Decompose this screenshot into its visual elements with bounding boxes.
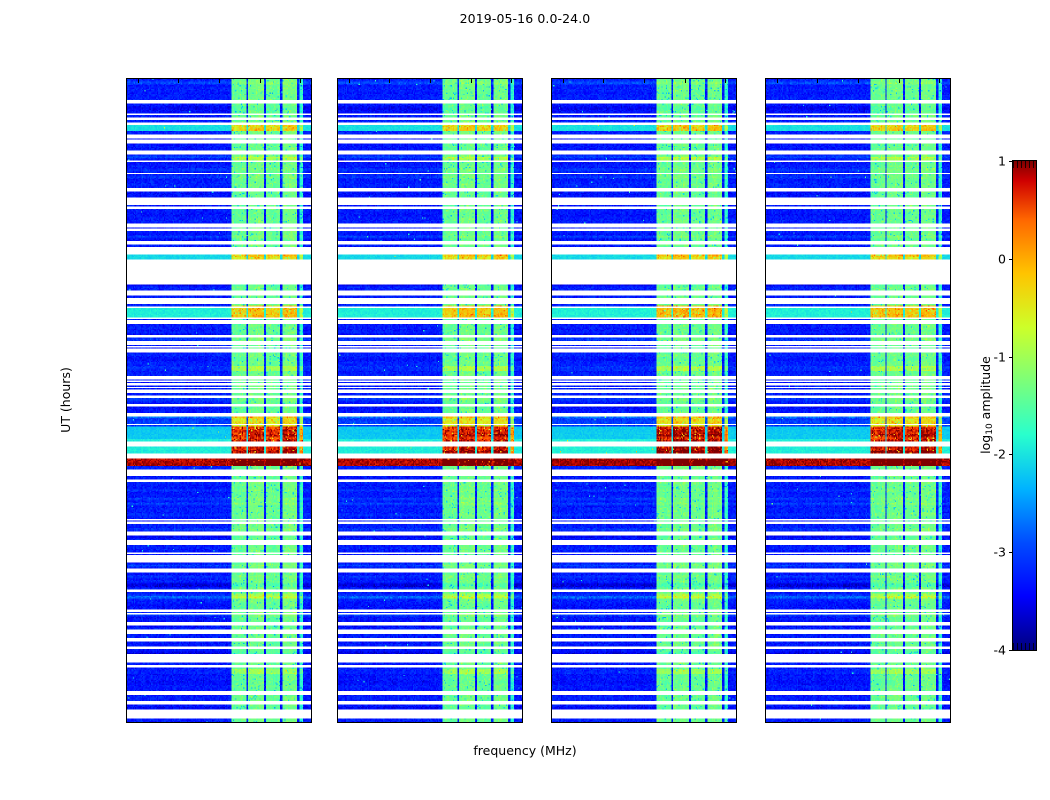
x-tick-mark xyxy=(430,79,431,83)
y-tick-mark xyxy=(337,454,338,455)
y-tick-mark xyxy=(126,722,127,723)
colorbar-tick-mark xyxy=(1009,357,1013,358)
colorbar-label-text: log xyxy=(978,435,993,454)
x-tick-mark xyxy=(178,79,179,83)
y-tick-mark xyxy=(337,588,338,589)
colorbar[interactable]: 10-1-2-3-4 xyxy=(1012,160,1037,651)
x-tick-label: 350 xyxy=(846,722,870,723)
x-tick-label: 350 xyxy=(632,722,656,723)
x-tick-label: 335 xyxy=(166,722,190,723)
x-tick-mark xyxy=(471,79,472,83)
x-tick-label: 320 xyxy=(337,722,361,723)
panel-xy[interactable]: XY, V0*V2=EA20*EA12 05101520320335350365… xyxy=(551,78,737,723)
x-tick-label: 335 xyxy=(377,722,401,723)
y-tick-mark xyxy=(551,722,552,723)
colorbar-extend-max-icon xyxy=(1013,161,1036,168)
x-tick-label: 350 xyxy=(207,722,231,723)
y-tick-mark xyxy=(337,320,338,321)
figure-canvas: 2019-05-16 0.0-24.0 XX, V0*V2=EA20*EA12 … xyxy=(0,0,1050,800)
x-tick-mark xyxy=(858,79,859,83)
x-tick-mark xyxy=(725,79,726,83)
x-tick-mark xyxy=(817,79,818,83)
x-tick-label: 380 xyxy=(288,722,312,723)
x-tick-label: 365 xyxy=(887,722,911,723)
x-tick-mark xyxy=(777,79,778,83)
y-tick-mark xyxy=(551,320,552,321)
y-tick-mark xyxy=(765,588,766,589)
y-tick-mark xyxy=(765,454,766,455)
panel-yx[interactable]: YX, V0*V2=EA20*EA12 05101520320335350365… xyxy=(765,78,951,723)
y-tick-mark xyxy=(551,186,552,187)
panel-xx-image xyxy=(127,79,311,722)
y-tick-mark xyxy=(126,588,127,589)
x-tick-mark xyxy=(899,79,900,83)
x-tick-mark xyxy=(219,79,220,83)
x-tick-mark xyxy=(511,79,512,83)
x-tick-mark xyxy=(644,79,645,83)
x-tick-mark xyxy=(389,79,390,83)
figure-suptitle: 2019-05-16 0.0-24.0 xyxy=(0,11,1050,26)
x-tick-label: 335 xyxy=(591,722,615,723)
panel-xx[interactable]: XX, V0*V2=EA20*EA12 05101520320335350365… xyxy=(126,78,312,723)
x-tick-label: 365 xyxy=(459,722,483,723)
x-tick-mark xyxy=(603,79,604,83)
x-tick-label: 320 xyxy=(765,722,789,723)
y-tick-mark xyxy=(126,186,127,187)
x-axis-label: frequency (MHz) xyxy=(0,743,1050,758)
y-tick-mark xyxy=(551,588,552,589)
panel-xy-image xyxy=(552,79,736,722)
colorbar-label-main: amplitude xyxy=(978,356,993,419)
panel-yx-image xyxy=(766,79,950,722)
panel-yy-image xyxy=(338,79,522,722)
colorbar-label-subscript: 10 xyxy=(985,423,995,434)
x-tick-label: 380 xyxy=(713,722,737,723)
x-tick-label: 365 xyxy=(248,722,272,723)
x-tick-mark xyxy=(138,79,139,83)
x-tick-mark xyxy=(685,79,686,83)
y-axis-label: UT (hours) xyxy=(58,367,73,433)
colorbar-tick-mark xyxy=(1009,454,1013,455)
colorbar-tick-mark xyxy=(1009,161,1013,162)
panel-yy[interactable]: YY, V0*V2=EA20*EA12 05101520320335350365… xyxy=(337,78,523,723)
colorbar-tick-mark xyxy=(1009,552,1013,553)
colorbar-tick-mark xyxy=(1009,259,1013,260)
x-tick-label: 320 xyxy=(126,722,150,723)
y-tick-mark xyxy=(126,454,127,455)
x-tick-mark xyxy=(260,79,261,83)
x-tick-mark xyxy=(939,79,940,83)
x-tick-label: 335 xyxy=(805,722,829,723)
colorbar-label: log10 amplitude xyxy=(978,356,995,454)
x-tick-label: 380 xyxy=(927,722,951,723)
y-tick-mark xyxy=(765,186,766,187)
x-tick-label: 380 xyxy=(499,722,523,723)
x-tick-label: 320 xyxy=(551,722,575,723)
y-tick-mark xyxy=(337,186,338,187)
x-tick-label: 350 xyxy=(418,722,442,723)
y-tick-mark xyxy=(337,722,338,723)
y-tick-mark xyxy=(126,320,127,321)
x-tick-mark xyxy=(563,79,564,83)
y-tick-mark xyxy=(765,320,766,321)
colorbar-tick-mark xyxy=(1009,650,1013,651)
y-tick-mark xyxy=(765,722,766,723)
colorbar-extend-min-icon xyxy=(1013,643,1036,650)
x-tick-label: 365 xyxy=(673,722,697,723)
y-tick-mark xyxy=(551,454,552,455)
x-tick-mark xyxy=(300,79,301,83)
x-tick-mark xyxy=(349,79,350,83)
